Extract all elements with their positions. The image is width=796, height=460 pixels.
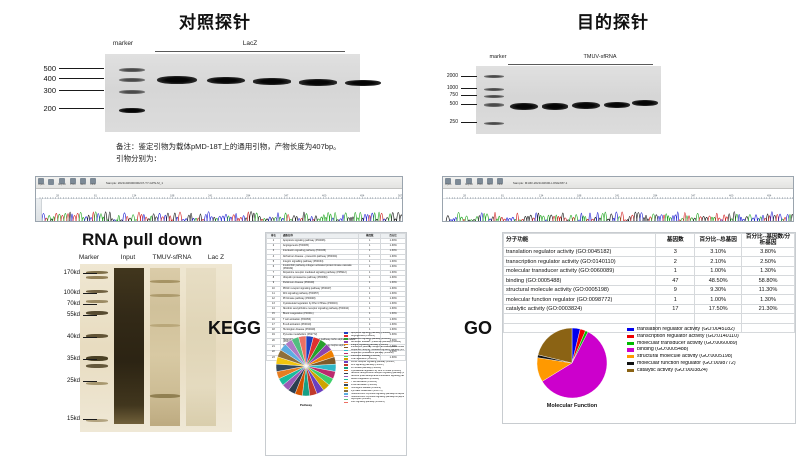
go-row-pct-analyzed: 1.30% bbox=[742, 295, 795, 305]
go-pie-title: Molecular Function bbox=[523, 403, 621, 409]
table-row[interactable]: translation regulator activity (GO:00451… bbox=[504, 247, 795, 257]
svg-text:81: 81 bbox=[501, 193, 504, 197]
svg-text:188: 188 bbox=[170, 193, 175, 197]
print-icon[interactable]: Print bbox=[477, 178, 483, 187]
legend-swatch-icon bbox=[344, 344, 348, 345]
legend-item: transcription regulator activity (GO:014… bbox=[627, 334, 795, 339]
pd-lane-tmuv: TMUV-sfRNA bbox=[145, 254, 199, 261]
go-row-genes: 1 bbox=[656, 266, 695, 276]
go-row-pct-analyzed: 2.50% bbox=[742, 257, 795, 267]
go-row-name: translation regulator activity (GO:00451… bbox=[504, 247, 656, 257]
control-marker-label: marker bbox=[103, 40, 143, 47]
chromatogram-left-ruler: 2881134188241294347400454507 bbox=[36, 189, 402, 199]
legend-label: translation regulator activity (GO:00451… bbox=[637, 327, 735, 332]
export-icon[interactable]: Export bbox=[58, 178, 66, 187]
target-probe-title: 目的探针 bbox=[430, 8, 796, 33]
go-table-header: 分子功能 基因数 百分比--总基因 百分比--基因数/分析基因 bbox=[504, 234, 795, 248]
sequencing-chromatogram-right[interactable]: Open Export Print Next Find Sample: M13R… bbox=[442, 176, 794, 222]
legend-swatch-icon bbox=[344, 338, 348, 339]
legend-swatch-icon bbox=[344, 399, 348, 400]
legend-swatch-icon bbox=[344, 393, 348, 394]
svg-text:134: 134 bbox=[539, 193, 544, 197]
go-row-pct-total: 1.00% bbox=[695, 266, 742, 276]
control-lane-rule bbox=[155, 51, 345, 52]
control-ladder-300: 300 bbox=[30, 86, 56, 95]
legend-swatch-icon bbox=[344, 370, 348, 371]
note-line-2: 引物分别为： bbox=[116, 153, 516, 165]
legend-item: FGF signaling pathway (P00021) bbox=[344, 401, 404, 403]
legend-swatch-icon bbox=[344, 373, 348, 374]
svg-text:454: 454 bbox=[767, 193, 772, 197]
chromatogram-left-scale bbox=[36, 199, 42, 222]
control-gel-lanes bbox=[105, 54, 360, 132]
legend-item: catalytic activity (GO:0003824) bbox=[627, 368, 795, 373]
svg-text:28: 28 bbox=[56, 193, 59, 197]
table-row-empty[interactable] bbox=[504, 314, 795, 324]
go-row-pct-total: 17.50% bbox=[695, 304, 742, 314]
go-row-name: binding (GO:0005488) bbox=[504, 276, 656, 286]
legend-label: molecular transducer activity (GO:006008… bbox=[637, 341, 737, 346]
table-row[interactable]: molecular function regulator (GO:0098772… bbox=[504, 295, 795, 305]
svg-text:454: 454 bbox=[360, 193, 365, 197]
go-section-label: GO bbox=[464, 318, 492, 339]
chromatogram-left-peaks bbox=[36, 199, 402, 222]
target-gel-image: marker TMUV-sfRNA 2000 1000 750 500 250 bbox=[430, 54, 796, 144]
cut-icon[interactable] bbox=[48, 179, 54, 186]
go-row-genes: 3 bbox=[656, 247, 695, 257]
table-row[interactable]: transcription regulator activity (GO:014… bbox=[504, 257, 795, 267]
legend-swatch-icon bbox=[627, 355, 634, 358]
legend-swatch-icon bbox=[344, 396, 348, 397]
legend-label: FGF signaling pathway (P00021) bbox=[351, 401, 385, 403]
pd-gel-image bbox=[80, 264, 232, 432]
chromatogram-right-trace bbox=[443, 199, 793, 222]
legend-item: translation regulator activity (GO:00451… bbox=[627, 327, 795, 332]
svg-text:241: 241 bbox=[615, 193, 620, 197]
table-row[interactable]: structural molecule activity (GO:0005198… bbox=[504, 285, 795, 295]
go-row-name: structural molecule activity (GO:0005198… bbox=[504, 285, 656, 295]
chromatogram-left-trace bbox=[36, 199, 402, 222]
pd-lane-lacz: Lac Z bbox=[200, 254, 232, 261]
pd-ladder-70: 70kd bbox=[50, 301, 80, 307]
chromatogram-right-peaks bbox=[443, 199, 793, 222]
go-pie-legend: translation regulator activity (GO:00451… bbox=[627, 327, 795, 375]
go-row-pct-analyzed: 21.30% bbox=[742, 304, 795, 314]
kegg-pie-legend: Apoptosis signaling pathway (P00006)Angi… bbox=[344, 332, 404, 404]
go-row-name: molecular transducer activity (GO:006008… bbox=[504, 266, 656, 276]
svg-text:507: 507 bbox=[398, 193, 402, 197]
control-lane-group-label: LacZ bbox=[160, 40, 340, 47]
legend-swatch-icon bbox=[344, 364, 348, 365]
chromatogram-right-toolbar[interactable]: Open Export Print Next Find Sample: M13R… bbox=[443, 177, 793, 189]
svg-text:400: 400 bbox=[322, 193, 327, 197]
cut-icon[interactable] bbox=[455, 179, 461, 186]
kegg-spreadsheet[interactable]: 排名 通路名称 基因数 百分比 1Apoptosis signaling pat… bbox=[265, 232, 407, 456]
legend-swatch-icon bbox=[344, 390, 348, 391]
legend-swatch-icon bbox=[344, 384, 348, 385]
pd-ladder-25: 25kd bbox=[50, 378, 80, 384]
target-ladder-250: 250 bbox=[432, 119, 458, 125]
legend-label: structural molecule activity (GO:0005198… bbox=[637, 354, 732, 359]
svg-text:294: 294 bbox=[246, 193, 251, 197]
table-row[interactable]: catalytic activity (GO:0003824)1717.50%2… bbox=[504, 304, 795, 314]
legend-item: molecular transducer activity (GO:006008… bbox=[627, 341, 795, 346]
legend-label: binding (GO:0005488) bbox=[637, 347, 688, 352]
go-row-pct-analyzed: 11.30% bbox=[742, 285, 795, 295]
target-ladder-500: 500 bbox=[432, 101, 458, 107]
legend-swatch-icon bbox=[344, 402, 348, 403]
chromatogram-right-sample-name: Sample: M13R-2021102600-LONEX87-1 bbox=[513, 181, 567, 185]
svg-text:134: 134 bbox=[132, 193, 137, 197]
pd-lane-marker: Marker bbox=[72, 254, 106, 261]
go-spreadsheet[interactable]: 分子功能 基因数 百分比--总基因 百分比--基因数/分析基因 translat… bbox=[502, 232, 796, 424]
find-icon[interactable]: Find bbox=[497, 178, 503, 187]
chromatogram-left-toolbar[interactable]: Open Export Print Next Find Sample: 2021… bbox=[36, 177, 402, 189]
go-row-genes: 1 bbox=[656, 295, 695, 305]
kegg-pie-title: Pathway bbox=[274, 403, 338, 407]
go-row-pct-analyzed: 3.80% bbox=[742, 247, 795, 257]
target-marker-label: marker bbox=[478, 54, 518, 60]
open-icon[interactable]: Open bbox=[38, 178, 44, 187]
target-lane-group-label: TMUV-sfRNA bbox=[525, 54, 675, 60]
svg-text:347: 347 bbox=[284, 193, 289, 197]
go-row-genes: 9 bbox=[656, 285, 695, 295]
go-row-pct-total: 9.30% bbox=[695, 285, 742, 295]
svg-text:400: 400 bbox=[729, 193, 734, 197]
legend-swatch-icon bbox=[344, 332, 348, 333]
legend-swatch-icon bbox=[627, 348, 634, 351]
pd-ladder-40: 40kd bbox=[50, 334, 80, 340]
go-pie-chart bbox=[523, 325, 621, 405]
go-table[interactable]: 分子功能 基因数 百分比--总基因 百分比--基因数/分析基因 translat… bbox=[503, 233, 795, 333]
go-row-pct-total: 3.10% bbox=[695, 247, 742, 257]
next-icon[interactable]: Next bbox=[80, 178, 86, 187]
go-row-pct-total: 48.50% bbox=[695, 276, 742, 286]
control-probe-gel-panel: 对照探针 marker LacZ 500 400 300 200 bbox=[0, 8, 430, 143]
control-ladder-500: 500 bbox=[30, 64, 56, 73]
control-ladder-200: 200 bbox=[30, 104, 56, 113]
legend-swatch-icon bbox=[627, 342, 634, 345]
pd-ladder-100: 100kd bbox=[50, 290, 80, 296]
target-probe-gel-panel: 目的探针 marker TMUV-sfRNA 2000 1000 750 500… bbox=[430, 8, 796, 143]
legend-swatch-icon bbox=[344, 387, 348, 388]
pd-ladder-35: 35kd bbox=[50, 356, 80, 362]
go-row-genes: 2 bbox=[656, 257, 695, 267]
target-ladder-2000: 2000 bbox=[432, 73, 458, 79]
kegg-pie-chart bbox=[272, 333, 342, 403]
legend-swatch-icon bbox=[344, 382, 348, 383]
pd-ladder-170: 170kd bbox=[50, 270, 80, 276]
pd-lane-input: Input bbox=[113, 254, 143, 261]
svg-text:347: 347 bbox=[691, 193, 696, 197]
svg-text:188: 188 bbox=[577, 193, 582, 197]
go-row-name: molecular function regulator (GO:0098772… bbox=[504, 295, 656, 305]
legend-label: transcription regulator activity (GO:014… bbox=[637, 334, 739, 339]
go-row-pct-total: 1.00% bbox=[695, 295, 742, 305]
svg-text:28: 28 bbox=[463, 193, 466, 197]
chromatogram-left-sample-name: Sample: 2021102900000247-T7-GPN-M_1 bbox=[106, 181, 163, 185]
legend-swatch-icon bbox=[344, 347, 348, 348]
go-row-pct-total: 2.10% bbox=[695, 257, 742, 267]
go-row-name: transcription regulator activity (GO:014… bbox=[504, 257, 656, 267]
print-icon[interactable]: Print bbox=[70, 178, 76, 187]
svg-text:241: 241 bbox=[208, 193, 213, 197]
find-icon[interactable]: Find bbox=[90, 178, 96, 187]
legend-swatch-icon bbox=[344, 367, 348, 368]
sequencing-chromatogram-left[interactable]: Open Export Print Next Find Sample: 2021… bbox=[35, 176, 403, 222]
export-icon[interactable]: Export bbox=[465, 178, 473, 187]
legend-swatch-icon bbox=[344, 361, 348, 362]
legend-swatch-icon bbox=[627, 335, 634, 338]
legend-item: molecular function regulator (GO:0098772… bbox=[627, 361, 795, 366]
pd-ladder-55: 55kd bbox=[50, 312, 80, 318]
kegg-pie-area: Pathway Apoptosis signaling pathway (P00… bbox=[268, 331, 404, 453]
chromatogram-right-ruler: 2881134188241294347400454 bbox=[443, 189, 793, 199]
legend-swatch-icon bbox=[627, 328, 634, 331]
control-ladder-400: 400 bbox=[30, 74, 56, 83]
legend-label: catalytic activity (GO:0003824) bbox=[637, 368, 708, 373]
target-ladder-750: 750 bbox=[432, 92, 458, 98]
kegg-section-label: KEGG bbox=[208, 318, 261, 339]
table-row[interactable]: binding (GO:0005488)4748.50%58.80% bbox=[504, 276, 795, 286]
pd-ladder-15: 15kd bbox=[50, 416, 80, 422]
target-lane-rule bbox=[508, 64, 653, 65]
legend-swatch-icon bbox=[344, 341, 348, 342]
legend-swatch-icon bbox=[344, 356, 348, 357]
open-icon[interactable]: Open bbox=[445, 178, 451, 187]
go-row-pct-analyzed: 58.80% bbox=[742, 276, 795, 286]
legend-item: binding (GO:0005488) bbox=[627, 347, 795, 352]
control-gel-image: marker LacZ 500 400 300 200 bbox=[0, 40, 430, 140]
legend-swatch-icon bbox=[344, 335, 348, 336]
table-row[interactable]: molecular transducer activity (GO:006008… bbox=[504, 266, 795, 276]
note-line-1: 备注：鉴定引物为载体pMD-18T上的通用引物，产物长度为407bp。 bbox=[116, 141, 516, 153]
target-gel-lanes bbox=[476, 66, 661, 134]
go-row-genes: 17 bbox=[656, 304, 695, 314]
go-row-name: catalytic activity (GO:0003824) bbox=[504, 304, 656, 314]
rna-pull-down-title: RNA pull down bbox=[82, 230, 202, 250]
next-icon[interactable]: Next bbox=[487, 178, 493, 187]
go-row-pct-analyzed: 1.30% bbox=[742, 266, 795, 276]
legend-swatch-icon bbox=[344, 350, 348, 351]
svg-text:294: 294 bbox=[653, 193, 658, 197]
note-block: 备注：鉴定引物为载体pMD-18T上的通用引物，产物长度为407bp。 引物分别… bbox=[116, 141, 516, 164]
go-pie-area: Molecular Function translation regulator… bbox=[503, 325, 795, 423]
go-row-genes: 47 bbox=[656, 276, 695, 286]
legend-item: structural molecule activity (GO:0005198… bbox=[627, 354, 795, 359]
legend-swatch-icon bbox=[344, 376, 348, 377]
legend-swatch-icon bbox=[344, 379, 348, 380]
legend-swatch-icon bbox=[627, 369, 634, 372]
control-probe-title: 对照探针 bbox=[0, 8, 430, 33]
target-ladder-1000: 1000 bbox=[432, 85, 458, 91]
legend-swatch-icon bbox=[344, 358, 348, 359]
legend-swatch-icon bbox=[344, 353, 348, 354]
svg-text:81: 81 bbox=[94, 193, 97, 197]
legend-label: molecular function regulator (GO:0098772… bbox=[637, 361, 736, 366]
legend-swatch-icon bbox=[627, 362, 634, 365]
